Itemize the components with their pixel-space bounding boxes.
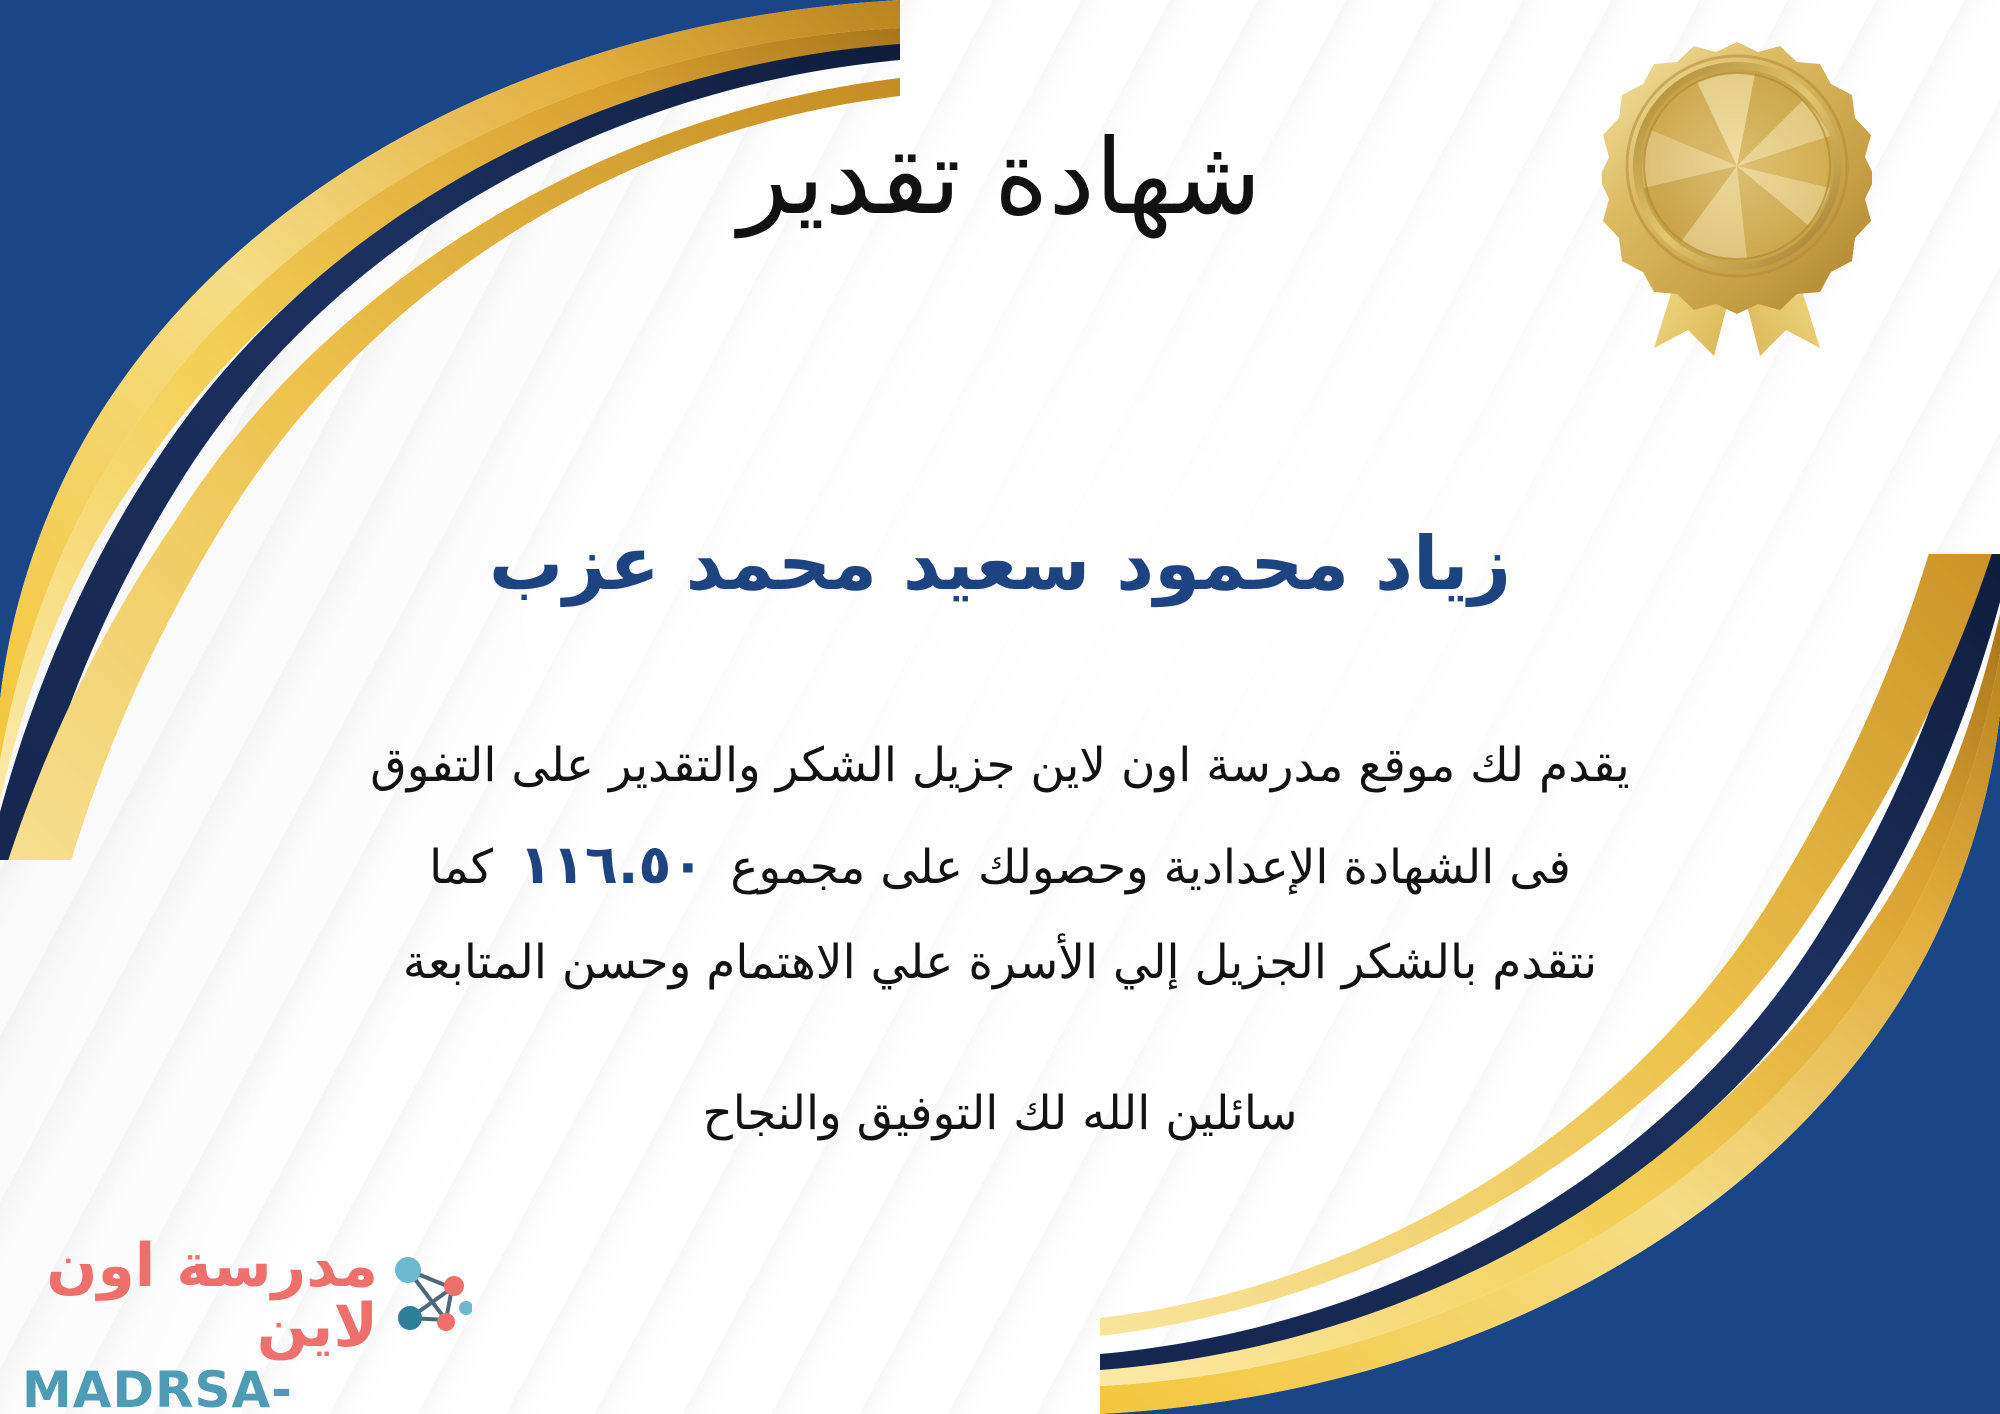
certificate-body: يقدم لك موقع مدرسة اون لاين جزيل الشكر و… xyxy=(60,720,1940,1009)
body-line-2-prefix: فى الشهادة الإعدادية وحصولك على مجموع xyxy=(730,840,1571,895)
body-line-3: نتقدم بالشكر الجزيل إلي الأسرة علي الاهت… xyxy=(60,917,1940,1009)
certificate-page: شهادة تقدير زياد محمود سعيد محمد عزب يقد… xyxy=(0,0,2000,1414)
body-line-2: فى الشهادة الإعدادية وحصولك على مجموع١١٦… xyxy=(60,812,1940,917)
logo-top-row: مدرسة اون لاين xyxy=(22,1236,472,1356)
closing-wish-line: سائلين الله لك التوفيق والنجاح xyxy=(0,1086,2000,1141)
recipient-name: زياد محمود سعيد محمد عزب xyxy=(0,520,2000,609)
certificate-content: شهادة تقدير زياد محمود سعيد محمد عزب يقد… xyxy=(0,0,2000,1414)
logo-arabic-text: مدرسة اون لاين xyxy=(22,1236,378,1356)
body-line-2-suffix: كما xyxy=(429,840,493,895)
network-nodes-icon xyxy=(386,1248,472,1344)
certificate-title: شهادة تقدير xyxy=(0,118,2000,238)
body-line-1: يقدم لك موقع مدرسة اون لاين جزيل الشكر و… xyxy=(60,720,1940,812)
logo-website-text: MADRSA-ONLINE.COM xyxy=(22,1362,472,1414)
total-score-value: ١١٦.٥٠ xyxy=(493,833,730,896)
site-logo[interactable]: مدرسة اون لاين MADRSA-ONLINE.COM xyxy=(22,1236,472,1396)
